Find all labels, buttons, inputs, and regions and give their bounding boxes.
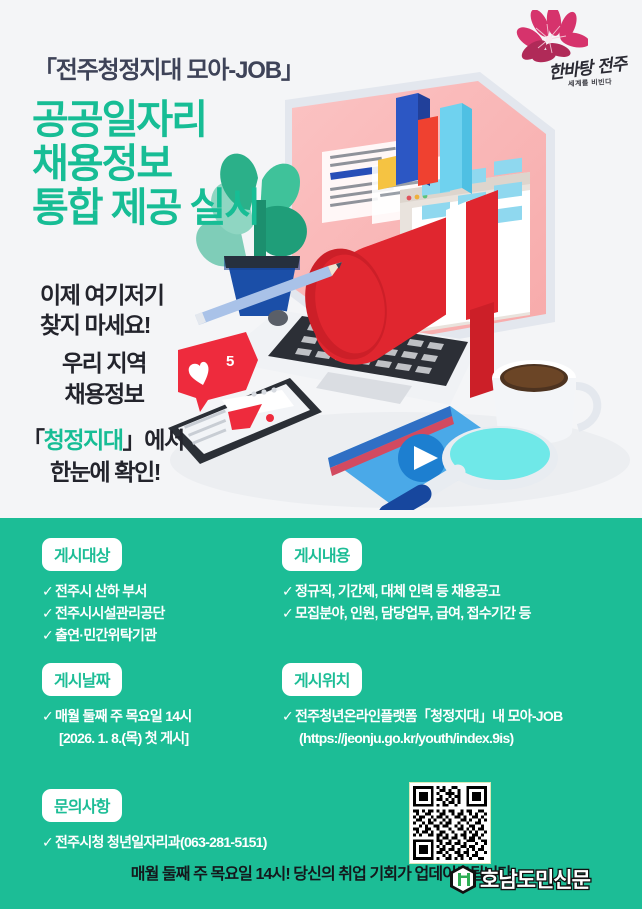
jeonju-city-logo: 한바탕 전주 세계를 비빈다: [502, 10, 630, 94]
page-title: 공공일자리 채용정보 통합 제공 실시: [32, 98, 259, 230]
field-posting-content: 게시내용 ✓정규직, 기간제, 대체 인력 등 채용공고 ✓모집분야, 인원, …: [282, 538, 531, 624]
values-posting-location: ✓전주청년온라인플랫폼「청정지대」내 모아-JOB (https://jeonj…: [282, 705, 563, 749]
label-posting-content: 게시내용: [282, 538, 362, 571]
check-icon: ✓: [282, 705, 295, 727]
values-posting-content: ✓정규직, 기간제, 대체 인력 등 채용공고 ✓모집분야, 인원, 담당업무,…: [282, 580, 531, 624]
subcopy-3-suffix: 」에서: [123, 427, 184, 453]
headline-line-3: 통합 제공 실시: [32, 186, 259, 230]
headline-line-2: 채용정보: [32, 142, 259, 186]
watermark-label: 호남도민신문: [480, 864, 590, 894]
check-icon: ✓: [42, 831, 55, 853]
check-icon: ✓: [42, 602, 55, 624]
headline-line-1: 공공일자리: [32, 98, 259, 142]
subcopy-block-1: 이제 여기저기 찾지 마세요!: [40, 280, 164, 340]
field-posting-target: 게시대상 ✓전주시 산하 부서 ✓전주시시설관리공단 ✓출연·민간위탁기관: [42, 538, 165, 646]
list-item: [2026. 1. 8.(목) 첫 게시]: [42, 727, 192, 749]
list-item: ✓정규직, 기간제, 대체 인력 등 채용공고: [282, 580, 531, 602]
qr-code[interactable]: [409, 782, 491, 864]
top-section: 5: [0, 0, 642, 518]
field-inquiry: 문의사항 ✓전주시청 청년일자리과(063-281-5151): [42, 789, 267, 853]
subcopy-2-line-2: 채용정보: [62, 379, 146, 410]
list-item: ✓전주시시설관리공단: [42, 602, 165, 624]
subcopy-1-line-1: 이제 여기저기: [40, 280, 164, 310]
subcopy-2-line-1: 우리 지역: [62, 348, 146, 379]
subcopy-3-bracket-open: 「: [22, 427, 44, 453]
poster-root: 5: [0, 0, 642, 909]
values-posting-target: ✓전주시 산하 부서 ✓전주시시설관리공단 ✓출연·민간위탁기관: [42, 580, 165, 646]
list-item: ✓매월 둘째 주 목요일 14시: [42, 705, 192, 727]
list-item: ✓전주시 산하 부서: [42, 580, 165, 602]
list-item: ✓전주시청 청년일자리과(063-281-5151): [42, 831, 267, 853]
check-icon: ✓: [282, 602, 295, 624]
label-posting-location: 게시위치: [282, 663, 362, 696]
info-panel: 게시대상 ✓전주시 산하 부서 ✓전주시시설관리공단 ✓출연·민간위탁기관 게시…: [0, 518, 642, 909]
list-item: ✓전주청년온라인플랫폼「청정지대」내 모아-JOB: [282, 705, 563, 727]
field-posting-date: 게시날짜 ✓매월 둘째 주 목요일 14시 [2026. 1. 8.(목) 첫 …: [42, 663, 192, 749]
check-icon: ✓: [42, 580, 55, 602]
list-item: ✓모집분야, 인원, 담당업무, 급여, 접수기간 등: [282, 602, 531, 624]
subcopy-block-3: 「청정지대」에서 한눈에 확인!: [22, 424, 184, 488]
honam-domin-newspaper-watermark: 호남도민신문: [450, 864, 590, 894]
check-icon: ✓: [42, 624, 55, 646]
label-inquiry: 문의사항: [42, 789, 122, 822]
label-posting-target: 게시대상: [42, 538, 122, 571]
list-item: ✓출연·민간위탁기관: [42, 624, 165, 646]
values-inquiry: ✓전주시청 청년일자리과(063-281-5151): [42, 831, 267, 853]
label-posting-date: 게시날짜: [42, 663, 122, 696]
hexagon-logo-icon: [450, 865, 476, 894]
subcopy-3-highlight: 청정지대: [44, 427, 123, 453]
platform-url[interactable]: (https://jeonju.go.kr/youth/index.9is): [282, 727, 563, 749]
check-icon: ✓: [42, 705, 55, 727]
subcopy-3-line-2: 한눈에 확인!: [22, 456, 184, 488]
values-posting-date: ✓매월 둘째 주 목요일 14시 [2026. 1. 8.(목) 첫 게시]: [42, 705, 192, 749]
subcopy-block-2: 우리 지역 채용정보: [62, 348, 146, 410]
kicker-title: 「전주청정지대 모아-JOB」: [33, 50, 304, 85]
check-icon: ✓: [282, 580, 295, 602]
field-posting-location: 게시위치 ✓전주청년온라인플랫폼「청정지대」내 모아-JOB (https://…: [282, 663, 563, 749]
subcopy-1-line-2: 찾지 마세요!: [40, 310, 164, 340]
like-count: 5: [226, 353, 234, 370]
city-logo-tagline: 세계를 비빈다: [568, 77, 613, 89]
